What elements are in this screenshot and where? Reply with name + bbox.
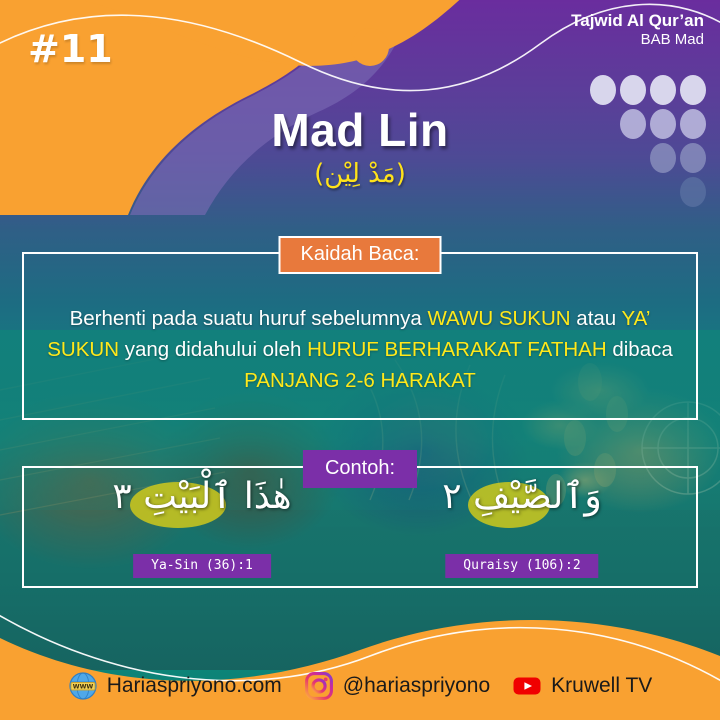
example-item: وَٱلصَّيْفِ ۲ Quraisy (106):2 bbox=[372, 476, 672, 552]
series-meta: Tajwid Al Qur’an BAB Mad bbox=[571, 10, 704, 50]
example-arabic: هٰذَا ٱلْبَيْتِ ۳ bbox=[52, 476, 352, 517]
series-subtitle: BAB Mad bbox=[571, 31, 704, 50]
rule-panel: Kaidah Baca: Berhenti pada suatu huruf s… bbox=[22, 252, 698, 420]
globe-www-icon: WWW bbox=[68, 671, 98, 701]
instagram-icon bbox=[304, 671, 334, 701]
example-arabic: وَٱلصَّيْفِ ۲ bbox=[372, 476, 672, 517]
footer-label-youtube: Kruwell TV bbox=[551, 674, 652, 698]
youtube-icon bbox=[512, 671, 542, 701]
example-caption: Quraisy (106):2 bbox=[445, 554, 598, 578]
rule-plain-text: yang didahului oleh bbox=[119, 338, 307, 361]
example-item: هٰذَا ٱلْبَيْتِ ۳ Ya-Sin (36):1 bbox=[52, 476, 352, 552]
footer-links: WWW Hariaspriyono.com bbox=[0, 666, 720, 706]
rule-plain-text: dibaca bbox=[607, 338, 673, 361]
rule-text: Berhenti pada suatu huruf sebelumnya WAW… bbox=[24, 304, 696, 396]
svg-text:WWW: WWW bbox=[72, 683, 93, 690]
rule-highlight-term: PANJANG 2-6 HARAKAT bbox=[244, 369, 476, 392]
footer-label-website: Hariaspriyono.com bbox=[107, 674, 282, 698]
footer-item-website[interactable]: WWW Hariaspriyono.com bbox=[68, 671, 282, 701]
footer-label-instagram: @hariaspriyono bbox=[343, 674, 490, 698]
decorative-dot bbox=[620, 75, 646, 105]
decorative-dot bbox=[590, 75, 616, 105]
decorative-dot bbox=[680, 75, 706, 105]
lesson-number-badge: #11 bbox=[28, 27, 113, 71]
rule-plain-text: atau bbox=[571, 307, 622, 330]
page-title: Mad Lin bbox=[0, 103, 720, 157]
example-panel: Contoh: هٰذَا ٱلْبَيْتِ ۳ Ya-Sin (36):1 … bbox=[22, 466, 698, 588]
page-title-arabic: (مَدْ لِيْن) bbox=[0, 159, 720, 189]
title-block: Mad Lin (مَدْ لِيْن) bbox=[0, 103, 720, 189]
footer-item-instagram[interactable]: @hariaspriyono bbox=[304, 671, 490, 701]
rule-plain-text: Berhenti pada suatu huruf sebelumnya bbox=[70, 307, 428, 330]
series-title: Tajwid Al Qur’an bbox=[571, 10, 704, 31]
rule-highlight-term: HURUF BERHARAKAT FATHAH bbox=[307, 338, 607, 361]
rule-badge: Kaidah Baca: bbox=[279, 236, 442, 274]
orange-accent-circle bbox=[351, 28, 389, 66]
example-caption: Ya-Sin (36):1 bbox=[133, 554, 271, 578]
decorative-dot bbox=[650, 75, 676, 105]
infographic-card: #11 Tajwid Al Qur’an BAB Mad Mad Lin (مَ… bbox=[0, 0, 720, 720]
rule-highlight-term: WAWU SUKUN bbox=[427, 307, 570, 330]
footer-item-youtube[interactable]: Kruwell TV bbox=[512, 671, 652, 701]
